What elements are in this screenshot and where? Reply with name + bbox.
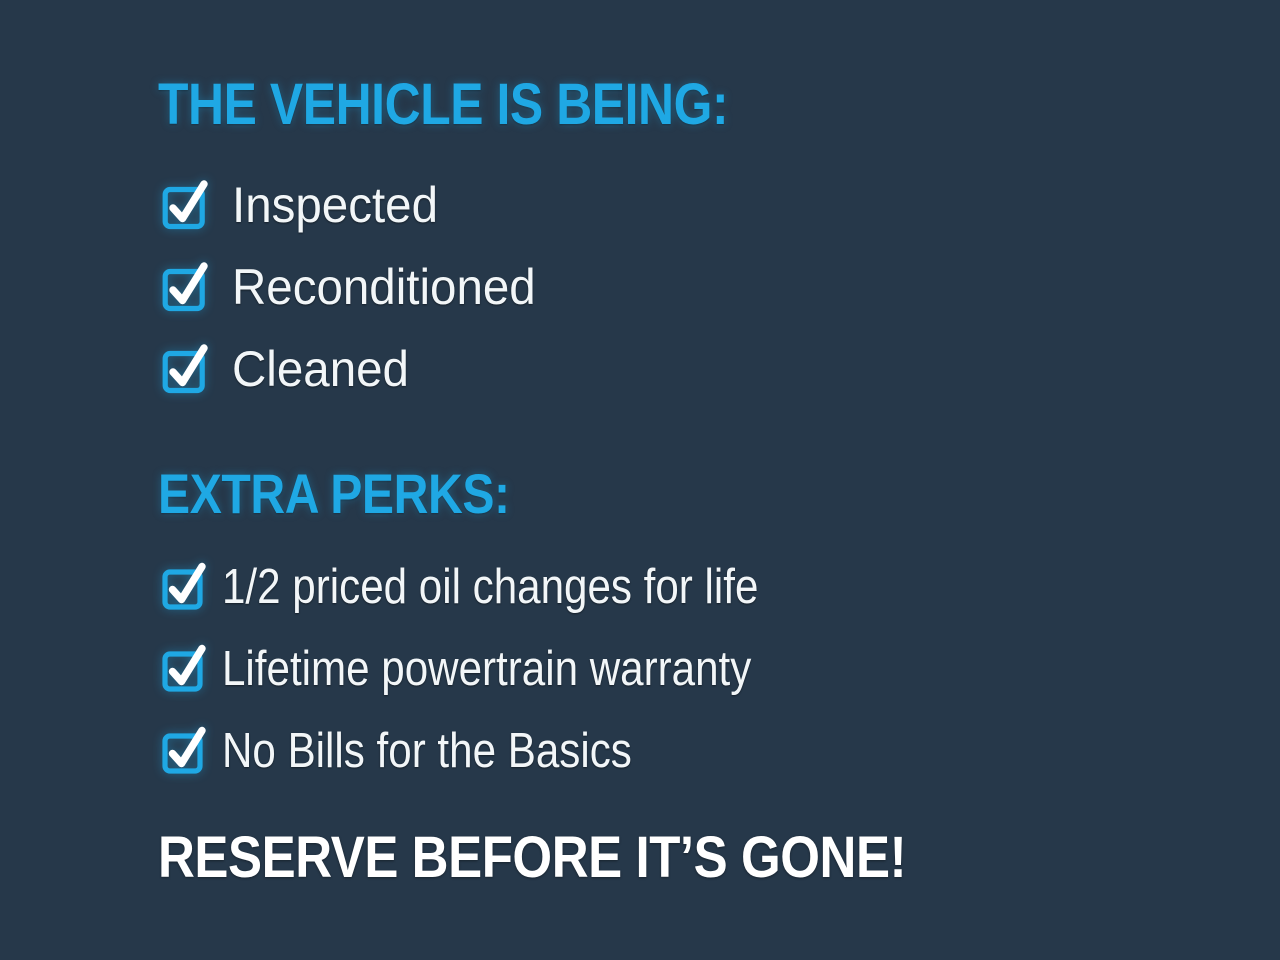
list-item-label: Reconditioned	[232, 260, 536, 314]
list-item-label: Cleaned	[232, 342, 409, 396]
checkbox-checked-icon	[162, 561, 206, 613]
list-item-label: Lifetime powertrain warranty	[222, 643, 751, 696]
section-heading-perks: EXTRA PERKS:	[158, 464, 510, 524]
list-item: Inspected	[162, 164, 552, 246]
cta-headline: RESERVE BEFORE IT’S GONE!	[158, 827, 906, 889]
list-item-label: 1/2 priced oil changes for life	[222, 561, 758, 614]
list-item-label: No Bills for the Basics	[222, 725, 632, 778]
list-item: Lifetime powertrain warranty	[162, 628, 846, 710]
list-item: Reconditioned	[162, 246, 552, 328]
list-item: Cleaned	[162, 328, 552, 410]
checkbox-checked-icon	[162, 178, 208, 232]
checkbox-checked-icon	[162, 725, 206, 777]
checklist-perks: 1/2 priced oil changes for life Lifetime…	[162, 546, 846, 792]
list-item-label: Inspected	[232, 178, 438, 232]
slide-content: THE VEHICLE IS BEING: Inspected	[158, 0, 1280, 960]
checkbox-checked-icon	[162, 260, 208, 314]
checkbox-checked-icon	[162, 643, 206, 695]
list-item: No Bills for the Basics	[162, 710, 846, 792]
slide-canvas: THE VEHICLE IS BEING: Inspected	[0, 0, 1280, 960]
list-item: 1/2 priced oil changes for life	[162, 546, 846, 628]
checkbox-checked-icon	[162, 342, 208, 396]
section-heading-vehicle: THE VEHICLE IS BEING:	[158, 74, 728, 136]
checklist-vehicle: Inspected Reconditioned	[162, 164, 552, 410]
